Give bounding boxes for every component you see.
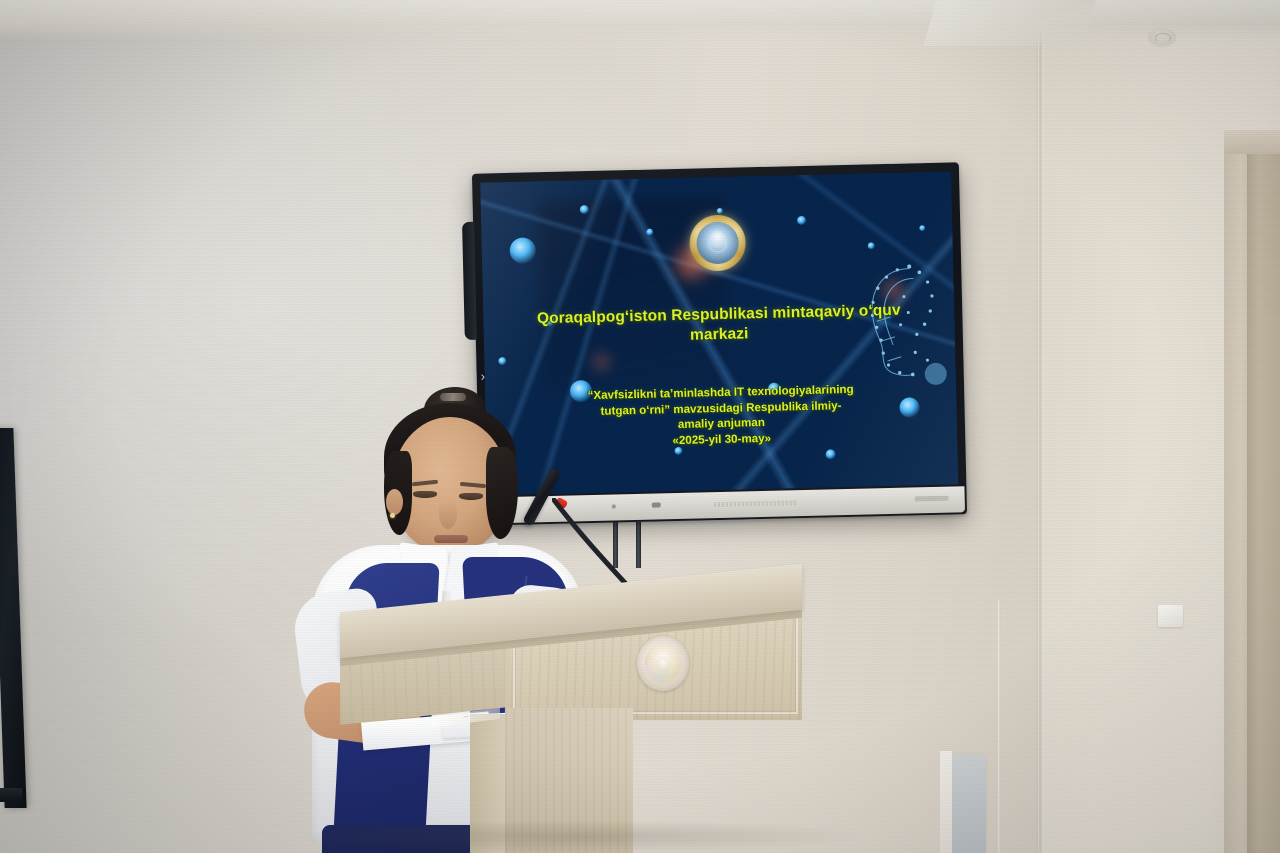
ceiling-seam [923,0,1096,46]
display-brand-logo [915,496,949,502]
side-monitor-foot [0,788,22,802]
display-mount-leg [636,522,641,568]
slide-node-dot [580,205,589,214]
door-frame-header [1224,130,1280,154]
photo-scene: › [0,0,1280,853]
smoke-detector-icon [1148,28,1176,46]
eye-right [459,493,483,500]
door-opening[interactable] [1247,152,1280,853]
eye-left [413,491,437,498]
emblem-bird [709,231,725,251]
light-switch[interactable] [1158,605,1183,627]
slide-lens-flare [588,349,615,376]
mouth [434,535,468,543]
wall-panel [946,755,986,853]
wall-seam [1038,0,1041,853]
display-button[interactable] [612,504,616,508]
display-mount-leg [613,522,618,568]
earring [390,513,395,518]
floor-shadow [300,820,860,853]
podium-emblem-bird [657,657,670,673]
uzbekistan-coat-of-arms-icon [637,636,689,691]
nose [439,499,457,529]
hair-side-right [486,447,518,539]
ear [386,489,403,515]
slide-node-dot [797,216,806,225]
slide-node-dot [716,208,722,214]
ir-sensor-icon [652,502,661,507]
slide-node-dot [646,229,653,236]
hair-clip [440,393,466,401]
wall-seam [998,600,1001,853]
speaker-grille [714,500,798,507]
podium: — [340,588,810,853]
